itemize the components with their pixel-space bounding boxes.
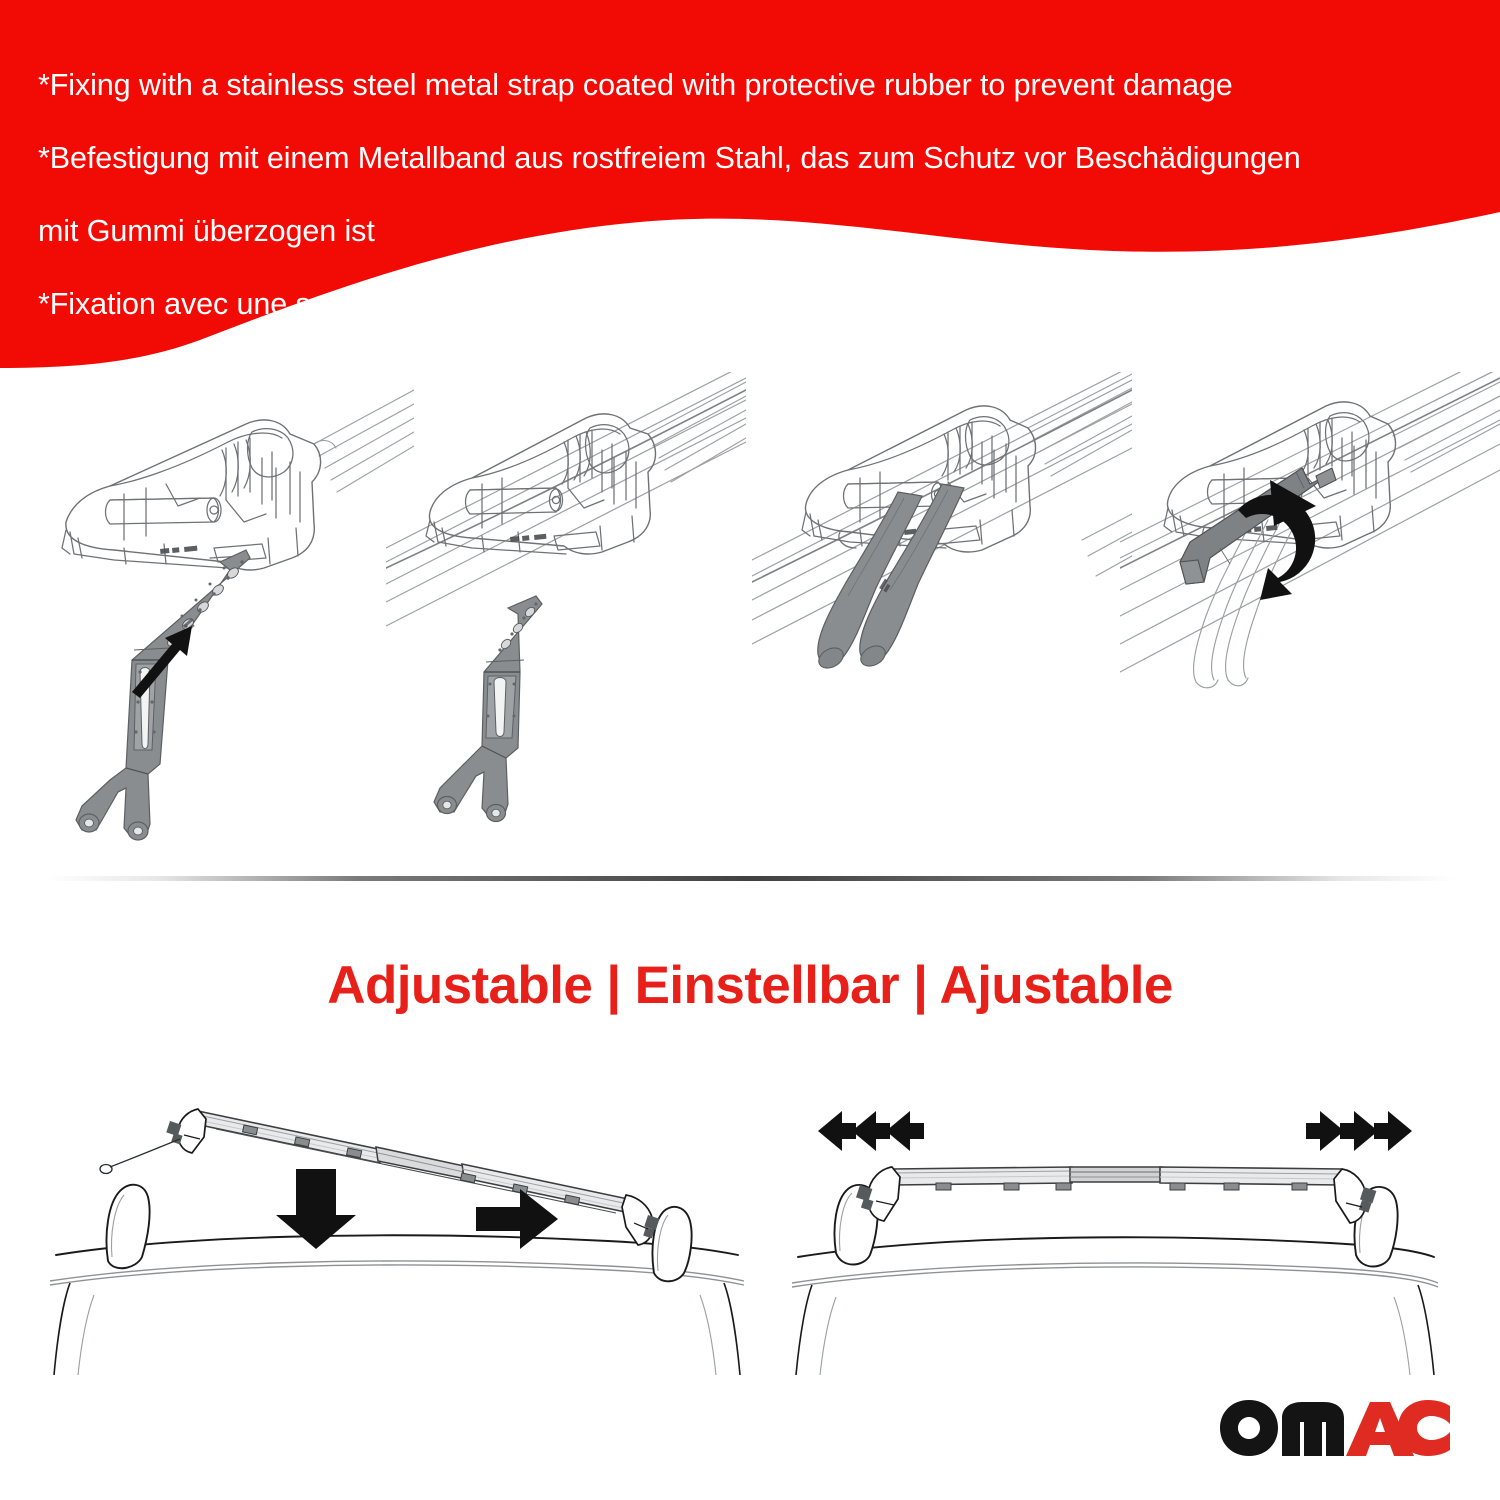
step-3-illustration [752,372,1132,872]
step-4-tighten-allen-key [1120,372,1500,872]
step-2-illustration [386,372,746,872]
step-1-illustration [14,372,414,872]
logo-letter-m [1282,1402,1344,1456]
rubber-coated-steel-strap [434,596,542,822]
triple-left-arrow-icon [818,1111,924,1151]
banner-line-fr-1: *Fixation avec une sangle en métal inoxy… [38,286,1468,323]
omac-logo [1218,1396,1450,1458]
width-range-illustration [790,1085,1440,1375]
step-3-wrap-strap [752,372,1132,872]
rubber-coated-steel-strap [815,484,964,672]
step-1-insert-strap [14,372,414,872]
adjustable-diagram-width-range [790,1085,1440,1375]
banner-line-de-1: *Befestigung mit einem Metallband aus ro… [38,140,1468,177]
lower-slide-illustration [48,1085,748,1375]
banner-line-de-2: mit Gummi überzogen ist [38,213,1468,250]
crossbar-assembly [100,1109,659,1245]
logo-letter-o [1220,1400,1278,1456]
adjustable-diagram-lower-slide [48,1085,748,1375]
section-divider [45,876,1455,881]
triple-right-arrow-icon [1306,1111,1412,1151]
step-4-illustration [1120,372,1500,872]
step-2-place-on-rail [386,372,746,872]
omac-logo-mark [1218,1396,1450,1458]
rubber-coated-steel-strap [76,550,250,840]
adjustable-heading: Adjustable | Einstellbar | Ajustable [0,955,1500,1016]
crossbar-assembly [856,1167,1376,1223]
banner-line-en: *Fixing with a stainless steel metal str… [38,67,1468,104]
installation-steps-strip [0,372,1500,872]
header-banner: *Fixing with a stainless steel metal str… [0,0,1500,380]
